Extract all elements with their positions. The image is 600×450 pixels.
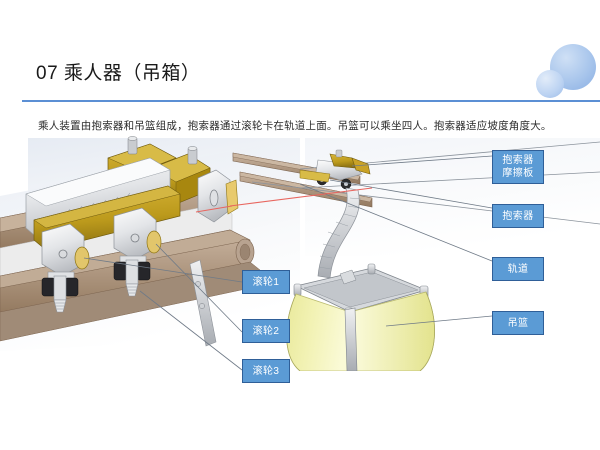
callout-line-1: 吊篮 <box>508 317 529 330</box>
callout-line-1: 滚轮3 <box>253 365 280 378</box>
callout-roller-2[interactable]: 滚轮2 <box>242 319 290 343</box>
callout-basket[interactable]: 吊篮 <box>492 311 544 335</box>
title-divider <box>22 100 600 102</box>
callout-roller-3[interactable]: 滚轮3 <box>242 359 290 383</box>
callout-line-1: 抱索器 <box>502 210 533 223</box>
callout-line-1: 滚轮1 <box>253 276 280 289</box>
callout-line-2: 摩擦板 <box>502 167 533 180</box>
callout-friction-plate[interactable]: 抱索器 摩擦板 <box>492 150 544 184</box>
callout-gripper[interactable]: 抱索器 <box>492 204 544 228</box>
decorative-circles <box>520 44 600 106</box>
description-text: 乘人装置由抱索器和吊篮组成，抱索器通过滚轮卡在轨道上面。吊篮可以乘坐四人。抱索器… <box>38 118 552 133</box>
callout-rail[interactable]: 轨道 <box>492 257 544 281</box>
callout-line-1: 滚轮2 <box>253 325 280 338</box>
callout-line-1: 轨道 <box>508 263 529 276</box>
callout-roller-1[interactable]: 滚轮1 <box>242 270 290 294</box>
callout-line-1: 抱索器 <box>502 154 533 167</box>
gondola-basket <box>287 264 435 371</box>
page-title: 07 乘人器（吊箱） <box>36 58 200 85</box>
decorative-circle-small-icon <box>536 70 564 98</box>
